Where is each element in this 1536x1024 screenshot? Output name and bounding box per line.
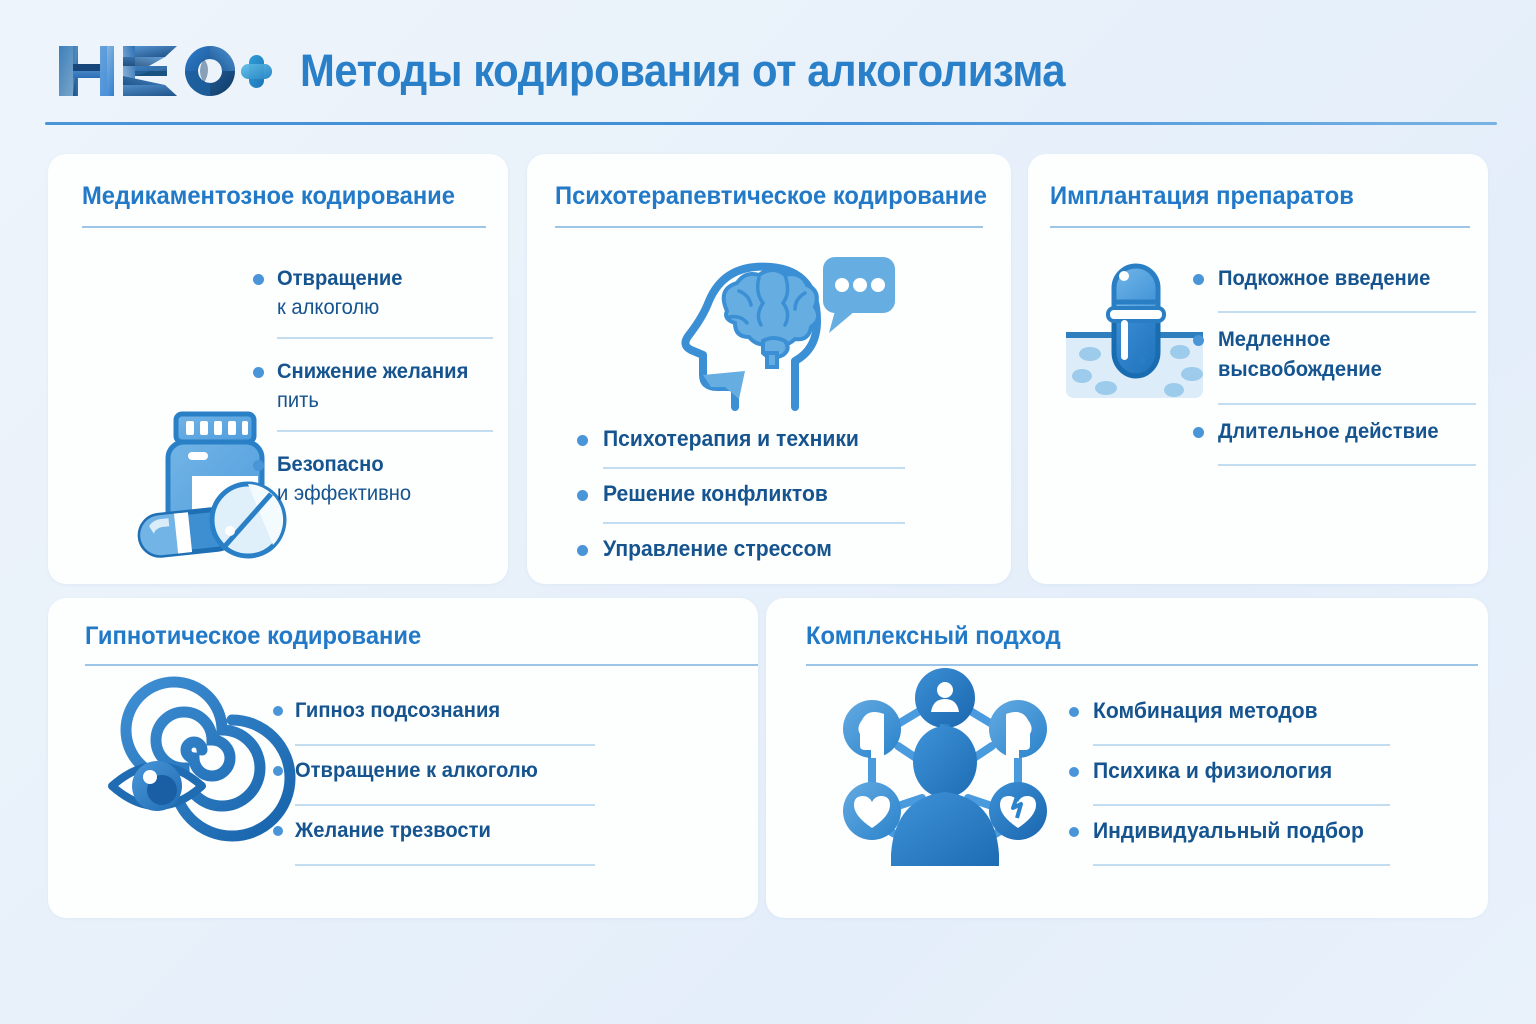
bullet-list: Психотерапия и техники Решение конфликто… [577,424,957,584]
bullet-line-1: Гипноз подсознания [295,696,600,726]
bullet-dot-icon [1069,827,1079,837]
card-title-divider [82,226,486,228]
capsule-implant-icon [1062,250,1207,405]
bullet-dot-icon [253,274,264,285]
infographic-canvas: Методы кодирования от алкоголизма Медика… [0,0,1536,1024]
list-item[interactable]: Желание трезвости [273,816,613,876]
bullet-line-1: Отвращение к алкоголю [295,756,600,786]
logo-letter-h [59,46,114,96]
bullet-underline [1218,311,1476,313]
header-divider [45,122,1497,125]
bullet-list: Комбинация методов Психика и физиология … [1069,696,1429,876]
list-item[interactable]: Снижение желания пить [253,357,493,450]
bullet-line-2: высвобождение [1218,355,1463,385]
bullet-line-1: Снижение желания [277,357,484,386]
bullet-list: Отвращение к алкоголю Снижение желания п… [253,264,493,543]
logo-letter-e [123,46,177,96]
bullet-underline [277,430,493,432]
list-item[interactable]: Подкожное введение [1193,264,1473,325]
bullet-line-2: и эффективно [277,479,484,508]
heart-pulse-node [989,782,1047,840]
bullet-dot-icon [253,367,264,378]
bullet-dot-icon [1069,707,1079,717]
bullet-dot-icon [273,826,283,836]
card-complex-approach[interactable]: Комплексный подход [766,598,1488,918]
list-item[interactable]: Безопасно и эффективно [253,450,493,543]
bullet-line-1: Длительное действие [1218,417,1463,447]
bullet-line-1: Желание трезвости [295,816,600,846]
speech-bubble-icon [823,257,895,333]
bullet-underline [295,864,595,866]
list-item[interactable]: Индивидуальный подбор [1069,816,1429,876]
person-network-icon [830,666,1055,866]
list-item[interactable]: Психика и физиология [1069,756,1429,816]
bullet-line-1: Решение конфликтов [603,479,943,509]
bullet-dot-icon [1069,767,1079,777]
card-title: Комплексный подход [806,622,1061,651]
list-item[interactable]: Управление стрессом [577,534,957,584]
page-title: Методы кодирования от алкоголизма [300,40,1065,102]
bullet-underline [1093,864,1390,866]
list-item[interactable]: Отвращение к алкоголю [253,264,493,357]
bullet-dot-icon [1193,274,1204,285]
hypnosis-spiral-eye-icon [106,678,281,823]
head-profile-right-node [989,700,1047,758]
card-title-divider [555,226,983,228]
bullet-line-1: Медленное [1218,325,1463,355]
bullet-underline [1093,744,1390,746]
head-brain-speech-icon [667,249,897,414]
list-item[interactable]: Отвращение к алкоголю [273,756,613,816]
bullet-line-2: пить [277,386,484,415]
list-item[interactable]: Психотерапия и техники [577,424,957,479]
bullet-dot-icon [577,545,588,556]
bullet-underline [295,804,595,806]
bullet-dot-icon [273,766,283,776]
heart-node [843,782,901,840]
logo-plus-sign [241,55,272,88]
list-item[interactable]: Гипноз подсознания [273,696,613,756]
bullet-underline [277,337,493,339]
bullet-list: Гипноз подсознания Отвращение к алкоголю… [273,696,613,876]
card-title-divider [85,664,758,666]
bullet-line-1: Подкожное введение [1218,264,1463,294]
bullet-dot-icon [273,706,283,716]
list-item[interactable]: Комбинация методов [1069,696,1429,756]
bullet-dot-icon [1193,427,1204,438]
card-title: Психотерапевтическое кодирование [555,182,987,211]
header: Методы кодирования от алкоголизма [45,30,1497,130]
card-title: Гипнотическое кодирование [85,622,421,651]
bullet-dot-icon [253,460,264,471]
bullet-line-1: Отвращение [277,264,484,293]
list-item[interactable]: Решение конфликтов [577,479,957,534]
list-item[interactable]: Медленное высвобождение [1193,325,1473,417]
list-item[interactable]: Длительное действие [1193,417,1473,478]
card-medication-coding[interactable]: Медикаментозное кодирование [48,154,508,584]
neo-plus-logo [57,40,272,102]
card-hypnotic-coding[interactable]: Гипнотическое кодирование [48,598,758,918]
bullet-line-1: Психотерапия и техники [603,424,943,454]
card-title: Имплантация препаратов [1050,182,1354,211]
bullet-line-1: Индивидуальный подбор [1093,816,1416,846]
bullet-line-1: Безопасно [277,450,484,479]
bullet-underline [603,522,905,524]
bullet-list: Подкожное введение Медленное высвобожден… [1193,264,1473,478]
card-implantation[interactable]: Имплантация препаратов [1028,154,1488,584]
bullet-dot-icon [577,435,588,446]
card-psychotherapy-coding[interactable]: Психотерапевтическое кодирование [527,154,1011,584]
bullet-line-1: Психика и физиология [1093,756,1416,786]
bullet-underline [295,744,595,746]
bullet-underline [1218,403,1476,405]
head-profile-left-node [843,700,901,758]
bullet-underline [1093,804,1390,806]
bullet-underline [603,467,905,469]
central-person-silhouette [891,726,999,866]
bullet-line-2: к алкоголю [277,293,484,322]
card-title: Медикаментозное кодирование [82,182,455,211]
bullet-underline [1218,464,1476,466]
bullet-line-1: Комбинация методов [1093,696,1416,726]
card-title-divider [1050,226,1470,228]
logo-letter-o [185,46,235,96]
bullet-line-1: Управление стрессом [603,534,943,564]
bullet-dot-icon [1193,335,1204,346]
bullet-dot-icon [577,490,588,501]
